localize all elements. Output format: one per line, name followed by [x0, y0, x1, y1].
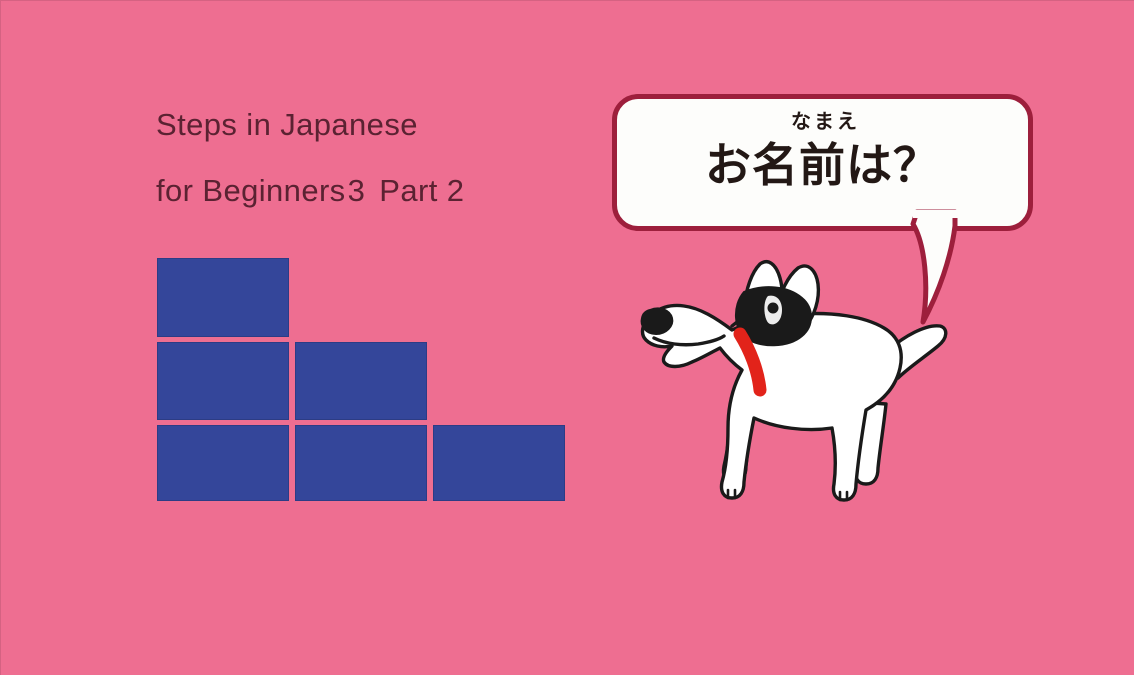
step-block-row1-col1	[157, 258, 289, 337]
dog-nose	[642, 308, 673, 334]
step-block-row3-col1	[157, 425, 289, 501]
title-line-2: for Beginners3Part 2	[156, 158, 464, 224]
step-block-row3-col2	[295, 425, 427, 501]
title-part-label: Part 2	[379, 173, 464, 208]
page-title: Steps in Japanese for Beginners3Part 2	[156, 92, 464, 224]
title-line-1: Steps in Japanese	[156, 92, 464, 158]
dog-pupil	[768, 303, 779, 314]
speech-bubble-main-text: お名前は？	[617, 136, 1028, 194]
dog-illustration	[636, 252, 976, 512]
step-block-row3-col3	[433, 425, 565, 501]
title-line-2-prefix: for Beginners	[156, 173, 346, 208]
title-volume-number: 3	[348, 173, 366, 208]
step-block-row2-col2	[295, 342, 427, 420]
speech-bubble-furigana: なまえ	[623, 109, 1028, 135]
step-block-row2-col1	[157, 342, 289, 420]
slide-canvas: Steps in Japanese for Beginners3Part 2 な…	[0, 0, 1134, 675]
speech-bubble-text: なまえ お名前は？	[617, 109, 1028, 194]
